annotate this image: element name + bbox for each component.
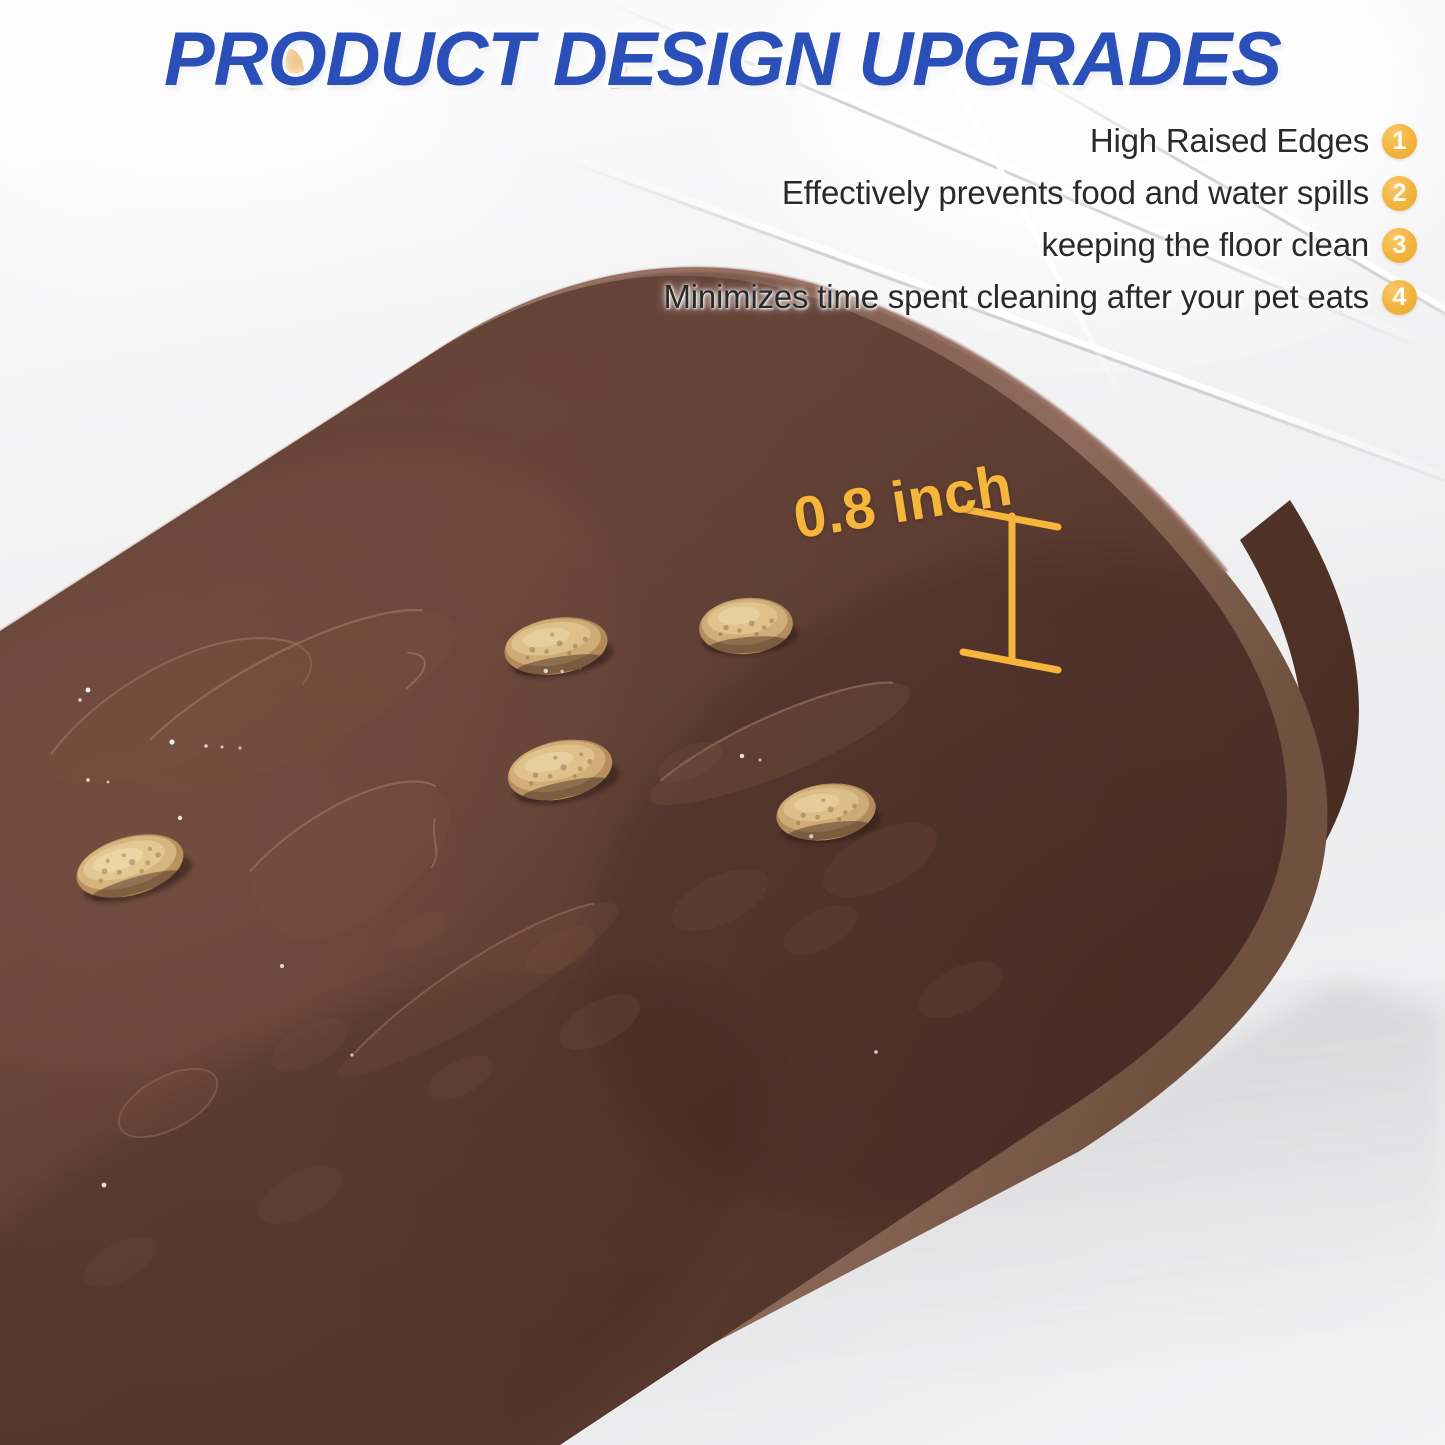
feature-item-2: Effectively prevents food and water spil… [663,170,1417,216]
feature-label: keeping the floor clean [1042,226,1369,264]
feature-item-4: Minimizes time spent cleaning after your… [663,274,1417,320]
feature-item-3: keeping the floor clean 3 [663,222,1417,268]
kibble-piece [69,822,197,913]
water-puddle [233,758,480,963]
floor-surface [0,980,1445,1445]
feature-label: High Raised Edges [1090,122,1369,160]
feature-badge-4: 4 [1382,280,1417,315]
kibble-group [69,594,884,913]
tray-rim-top-highlight [0,269,1226,762]
feature-item-1: High Raised Edges 1 [663,118,1417,164]
kibble-piece [773,777,884,850]
kibble-piece [502,730,623,814]
feature-list: High Raised Edges 1 Effectively prevents… [663,118,1417,320]
feature-badge-2: 2 [1382,176,1417,211]
water-puddle [28,603,327,820]
kibble-piece [697,594,800,659]
feature-label: Effectively prevents food and water spil… [782,174,1369,212]
dimension-label: 0.8 inch [789,452,1017,553]
tray-inner-wall-shade [0,309,1158,846]
feature-badge-1: 1 [1382,124,1417,159]
kibble-piece [500,610,616,685]
feature-label: Minimizes time spent cleaning after your… [663,278,1369,316]
page-title: PRODUCT DESIGN UPGRADES [0,16,1445,103]
water-puddle [108,580,478,826]
product-marketing-image: PRODUCT DESIGN UPGRADES High Raised Edge… [0,0,1445,1445]
feature-badge-3: 3 [1382,228,1417,263]
water-puddle [638,664,921,826]
